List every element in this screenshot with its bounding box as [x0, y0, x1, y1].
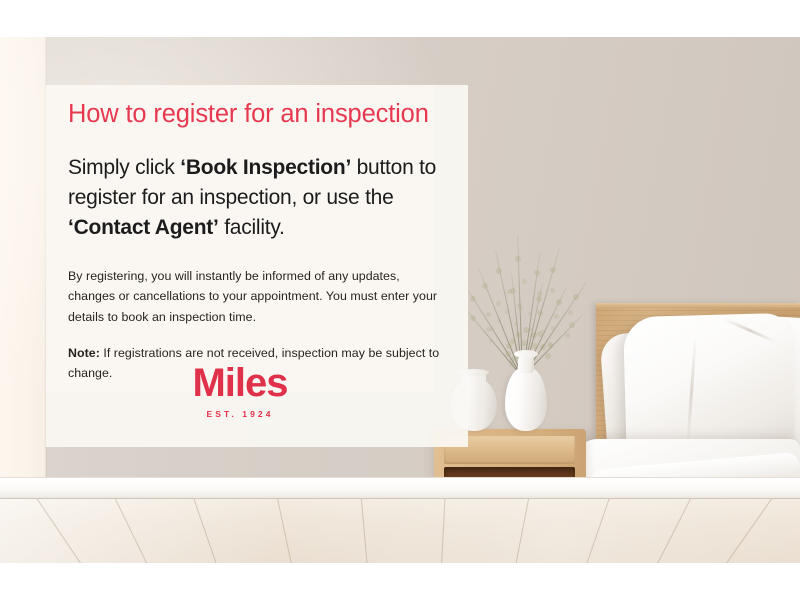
branch-leaf [514, 322, 518, 326]
brand-logo: Miles EST. 1924 [46, 363, 434, 419]
vase-tall [505, 367, 547, 431]
branch-leaf [506, 343, 512, 349]
letterbox-bottom [0, 563, 800, 600]
lede-paragraph: Simply click ‘Book Inspection’ button to… [68, 153, 446, 242]
branch-leaf [528, 312, 532, 316]
branch-leaf [522, 279, 527, 284]
lede-emphasis-book-inspection: ‘Book Inspection’ [180, 156, 351, 179]
branch-leaf [505, 351, 511, 357]
branch-leaf [554, 314, 559, 319]
wood-floor [0, 499, 800, 563]
branch-leaf [556, 299, 562, 305]
branch-leaf [568, 310, 573, 315]
branch-leaf [569, 322, 575, 328]
branch-leaf [550, 267, 556, 273]
logo-established-text: EST. 1924 [46, 410, 434, 419]
letterbox-top [0, 0, 800, 37]
skirting-board [0, 477, 800, 500]
lede-emphasis-contact-agent: ‘Contact Agent’ [68, 216, 219, 239]
branch-leaf [518, 305, 523, 310]
branch-leaf [515, 256, 521, 262]
branch-leaf [529, 327, 533, 331]
branch-leaf [545, 353, 551, 359]
info-card: How to register for an inspection Simply… [46, 85, 468, 447]
branch-leaf [550, 288, 555, 293]
branch-leaf [565, 333, 570, 338]
branch-leaf [538, 311, 543, 316]
lede-part-3: facility. [219, 216, 285, 239]
branch-leaf [536, 296, 542, 302]
branch-leaf [510, 338, 516, 344]
note-label: Note: [68, 346, 100, 360]
branch-leaf [549, 343, 553, 347]
branch-leaf [510, 288, 516, 294]
branch-leaf [496, 268, 502, 274]
logo-wordmark: Miles [46, 363, 434, 403]
branch-leaf [541, 329, 545, 333]
vase-tall-lip [514, 350, 538, 358]
lede-part-1: Simply click [68, 156, 180, 179]
page-title: How to register for an inspection [68, 99, 446, 131]
branch-leaf [470, 315, 476, 321]
branch-leaf [521, 340, 527, 346]
bed-headboard-top-edge [596, 303, 800, 308]
branch-leaf [482, 283, 488, 289]
branch-leaf [486, 327, 491, 332]
branch-leaf [534, 270, 540, 276]
branch-leaf [532, 343, 538, 349]
branch-leaf [486, 312, 491, 317]
branch-leaf [496, 301, 501, 306]
screenshot-stage: [] How to register for an inspection Sim… [0, 0, 800, 600]
body-paragraph: By registering, you will instantly be in… [68, 266, 446, 326]
branch-leaf [573, 294, 579, 300]
